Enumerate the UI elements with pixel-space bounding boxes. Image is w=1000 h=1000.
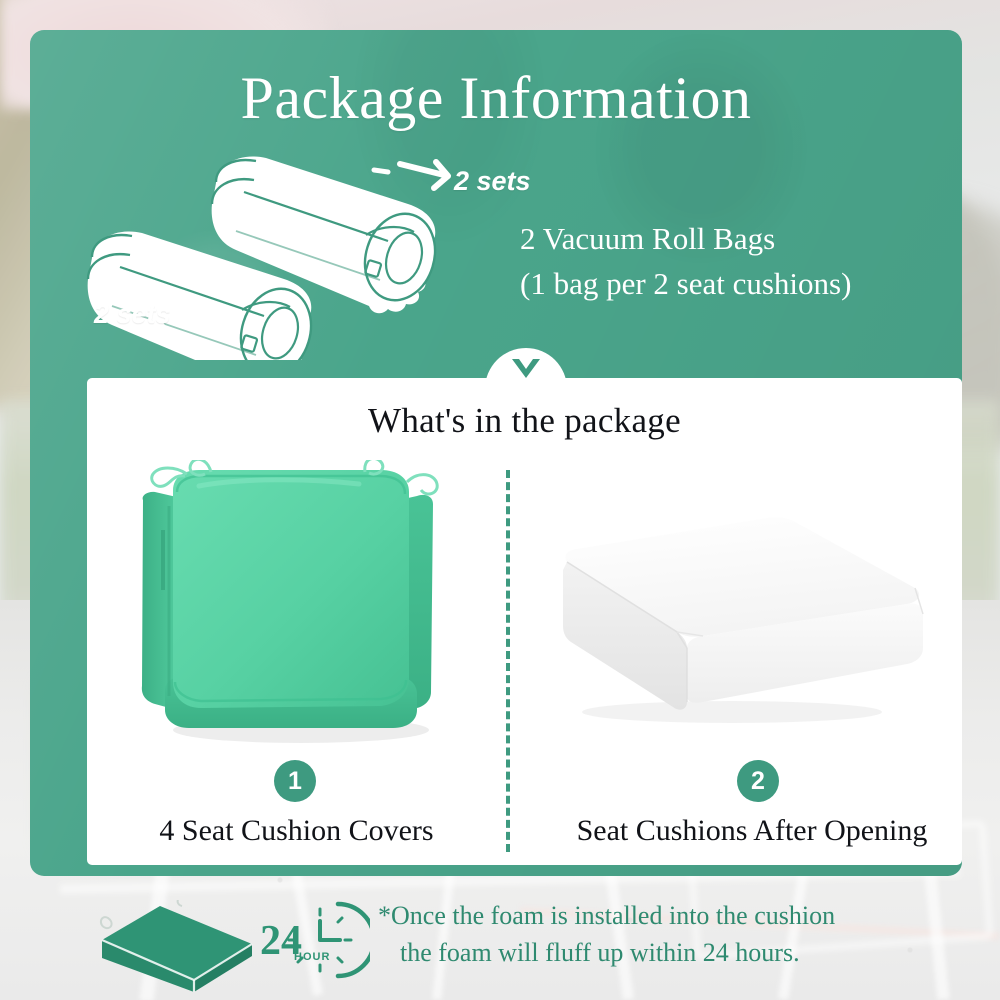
dashed-vertical-divider — [506, 470, 510, 852]
footer-note-line1: *Once the foam is installed into the cus… — [378, 901, 835, 930]
vacuum-bag-description-line2: (1 bag per 2 seat cushions) — [520, 261, 950, 306]
page-title: Package Information — [30, 68, 962, 128]
green-seat-cushion-cover-image — [129, 460, 467, 750]
clock-unit: HOUR — [294, 951, 330, 963]
arrow-right-icon — [374, 162, 448, 188]
set-label-top: 2 sets — [454, 166, 531, 197]
vacuum-bag-description: 2 Vacuum Roll Bags (1 bag per 2 seat cus… — [520, 216, 950, 307]
footer-note-area: 24 HOUR *Once the foam is installed into… — [0, 884, 1000, 1000]
package-information-panel: Package Information — [30, 30, 962, 876]
set-label-bottom: 2 sets — [94, 299, 171, 330]
footer-note-line2: the foam will fluff up within 24 hours. — [378, 935, 938, 972]
vacuum-bag-description-line1: 2 Vacuum Roll Bags — [520, 216, 950, 261]
white-foam-cushion-image — [527, 496, 927, 726]
item-caption-1: 4 Seat Cushion Covers — [87, 814, 506, 848]
24-hour-clock-icon: 24 HOUR — [258, 892, 370, 988]
card-title: What's in the package — [87, 401, 962, 441]
item-caption-2: Seat Cushions After Opening — [542, 814, 962, 848]
package-contents-card: What's in the package — [87, 378, 962, 865]
item-number-badge-1: 1 — [274, 760, 316, 802]
green-foam-cushion-icon — [98, 900, 256, 992]
item-number-badge-2: 2 — [737, 760, 779, 802]
footer-note-text: *Once the foam is installed into the cus… — [378, 898, 938, 972]
